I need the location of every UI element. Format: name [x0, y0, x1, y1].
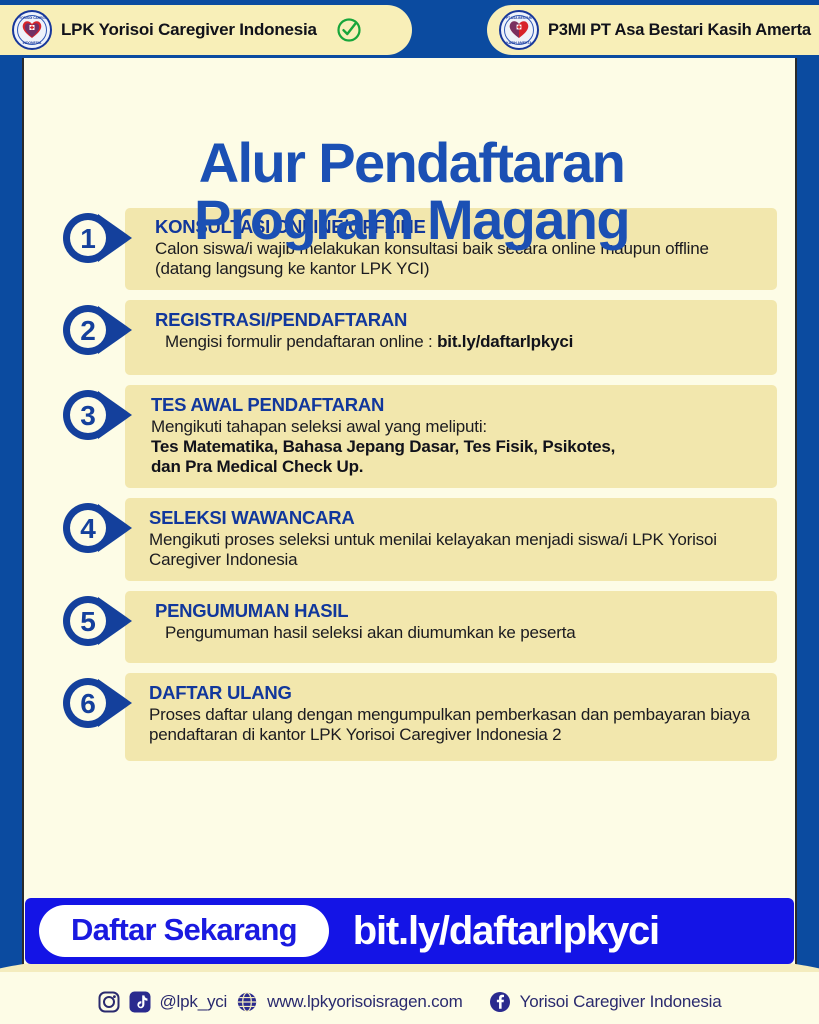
instagram-icon[interactable]	[98, 991, 120, 1013]
step-panel-6: DAFTAR ULANG Proses daftar ulang dengan …	[125, 673, 777, 761]
step-item-2: 2 REGISTRASI/PENDAFTARAN Mengisi formuli…	[24, 300, 799, 375]
tiktok-icon[interactable]	[129, 991, 151, 1013]
step-marker-6: 6	[58, 675, 144, 731]
step-body-6: Proses daftar ulang dengan mengumpulkan …	[149, 705, 763, 745]
step-number-6: 6	[80, 688, 96, 719]
top-header-bar: LPK YORISOI CAREGIVER INDONESIA LPK Yori…	[0, 0, 819, 58]
globe-icon	[236, 991, 258, 1013]
footer-social-row: @lpk_yci www.lpkyorisoisragen.com Yoriso…	[0, 980, 819, 1024]
step-panel-4: SELEKSI WAWANCARA Mengikuti proses selek…	[125, 498, 777, 581]
header-badge-left: LPK YORISOI CAREGIVER INDONESIA LPK Yori…	[0, 5, 412, 55]
step-number-2: 2	[80, 315, 96, 346]
step-body-3-strong-line-2: dan Pra Medical Check Up.	[151, 457, 763, 477]
step-marker-5: 5	[58, 593, 144, 649]
daftar-sekarang-button[interactable]: Daftar Sekarang	[39, 905, 329, 957]
step-body-3-strong-line-1: Tes Matematika, Bahasa Jepang Dasar, Tes…	[151, 437, 763, 457]
step-heading-3: TES AWAL PENDAFTARAN	[151, 394, 763, 416]
logo-sub-text-right: KASIH AMERTA	[506, 42, 532, 46]
step-number-5: 5	[80, 606, 96, 637]
step-body-4: Mengikuti proses seleksi untuk menilai k…	[149, 530, 763, 570]
header-badge-right-label: P3MI PT Asa Bestari Kasih Amerta	[548, 21, 811, 40]
step-body-2-prefix: Mengisi formulir pendaftaran online :	[165, 332, 437, 351]
infographic-poster: Alur Pendaftaran Program Magang 1 KONSUL…	[0, 0, 819, 1024]
step-panel-2: REGISTRASI/PENDAFTARAN Mengisi formulir …	[125, 300, 777, 375]
step-marker-2: 2	[58, 302, 144, 358]
step-item-3: 3 TES AWAL PENDAFTARAN Mengikuti tahapan…	[24, 385, 799, 488]
title-line-1: Alur Pendaftaran	[24, 134, 799, 191]
step-item-4: 4 SELEKSI WAWANCARA Mengikuti proses sel…	[24, 498, 799, 581]
step-number-4: 4	[80, 513, 96, 544]
step-body-5: Pengumuman hasil seleksi akan diumumkan …	[155, 623, 763, 643]
cta-registration-link[interactable]: bit.ly/daftarlpkyci	[353, 909, 659, 954]
facebook-icon[interactable]	[489, 991, 511, 1013]
step-item-5: 5 PENGUMUMAN HASIL Pengumuman hasil sele…	[24, 591, 799, 663]
step-panel-3: TES AWAL PENDAFTARAN Mengikuti tahapan s…	[125, 385, 777, 488]
logo-sub-text: INDONESIA	[23, 42, 42, 46]
step-number-1: 1	[80, 223, 96, 254]
heart-icon	[21, 19, 43, 39]
facebook-page-name[interactable]: Yorisoi Caregiver Indonesia	[520, 992, 722, 1012]
header-badge-right: PT ASA BESTARI KASIH AMERTA P3MI PT Asa …	[487, 5, 819, 55]
step-heading-4: SELEKSI WAWANCARA	[149, 507, 763, 529]
step-heading-5: PENGUMUMAN HASIL	[155, 600, 763, 622]
p3mi-asa-bestari-logo: PT ASA BESTARI KASIH AMERTA	[499, 10, 539, 50]
lpk-yorisoi-logo: LPK YORISOI CAREGIVER INDONESIA	[12, 10, 52, 50]
social-handle[interactable]: @lpk_yci	[160, 992, 228, 1012]
heart-icon-right	[508, 19, 530, 39]
green-check-circle-icon	[336, 17, 362, 43]
poster-canvas: Alur Pendaftaran Program Magang 1 KONSUL…	[22, 56, 797, 974]
step-body-2: Mengisi formulir pendaftaran online : bi…	[155, 332, 763, 352]
step-panel-5: PENGUMUMAN HASIL Pengumuman hasil seleks…	[125, 591, 777, 663]
cta-bar: Daftar Sekarang bit.ly/daftarlpkyci	[25, 898, 794, 964]
header-badge-left-label: LPK Yorisoi Caregiver Indonesia	[61, 20, 317, 40]
step-marker-3: 3	[58, 387, 144, 443]
step-marker-4: 4	[58, 500, 144, 556]
step-heading-6: DAFTAR ULANG	[149, 682, 763, 704]
website-url[interactable]: www.lpkyorisoisragen.com	[267, 992, 463, 1012]
step-item-6: 6 DAFTAR ULANG Proses daftar ulang denga…	[24, 673, 799, 761]
steps-list: 1 KONSULTASI ONLINE/OFFLINE Calon siswa/…	[24, 208, 799, 771]
step-number-3: 3	[80, 400, 96, 431]
registration-link[interactable]: bit.ly/daftarlpkyci	[437, 332, 573, 351]
step-body-3: Mengikuti tahapan seleksi awal yang meli…	[151, 417, 763, 437]
step-marker-1: 1	[58, 210, 144, 266]
step-heading-2: REGISTRASI/PENDAFTARAN	[155, 309, 763, 331]
